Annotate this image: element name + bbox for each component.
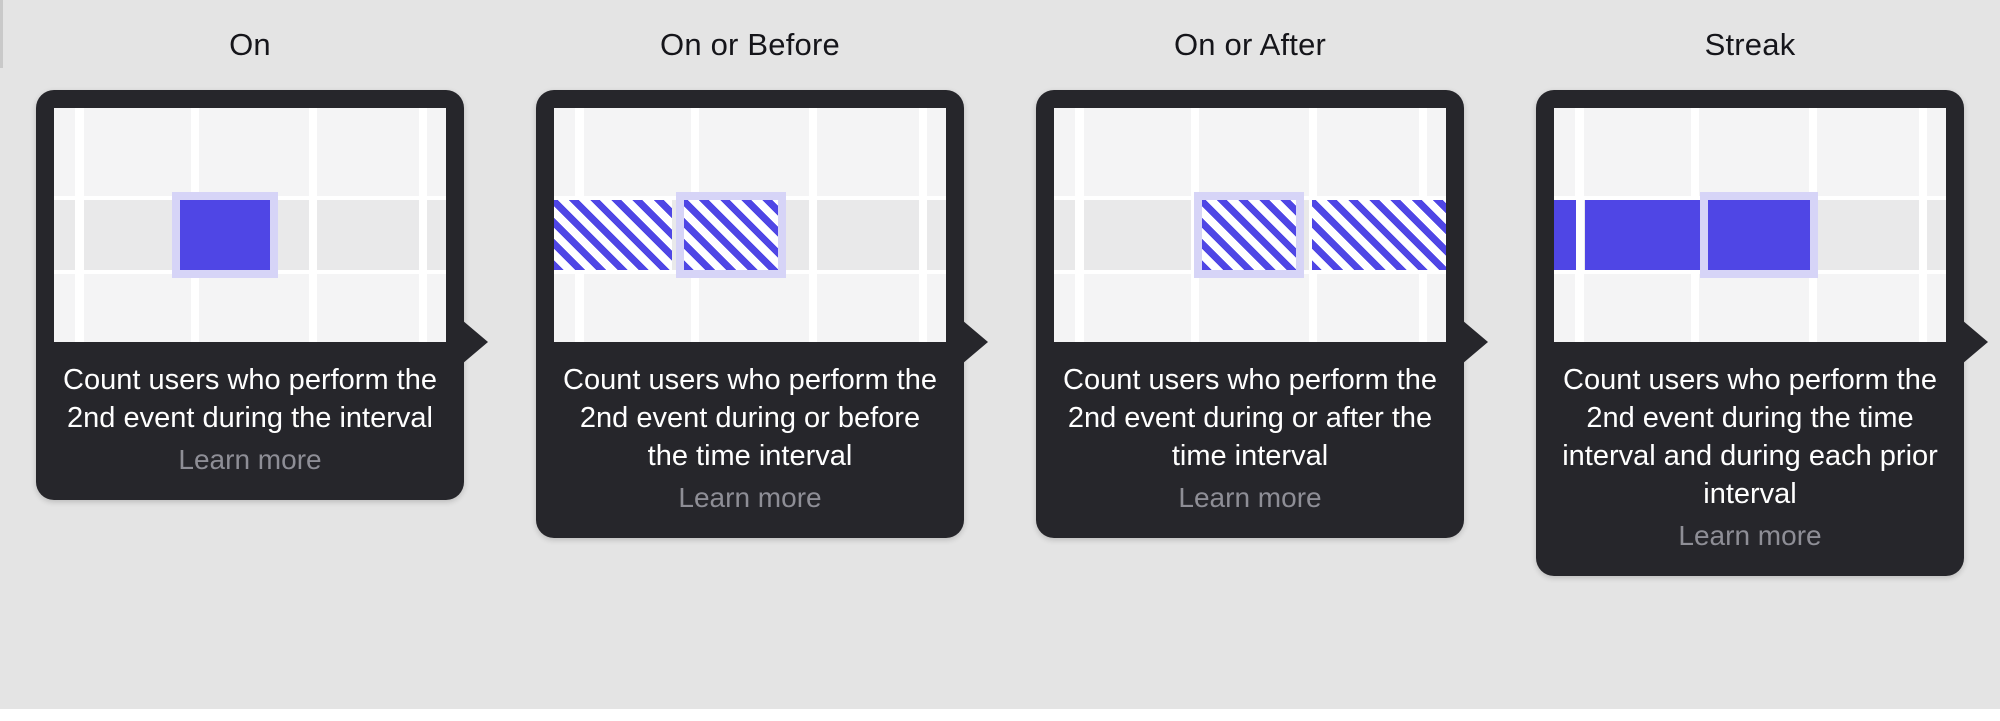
diagram-grid-cell bbox=[317, 200, 420, 270]
diagram-grid-cell bbox=[199, 108, 309, 196]
diagram-grid-cell bbox=[317, 274, 420, 342]
diagram-grid-cell bbox=[54, 200, 75, 270]
learn-more-link[interactable]: Learn more bbox=[178, 442, 321, 478]
diagram-mark-highlighted bbox=[1194, 192, 1304, 278]
learn-more-link[interactable]: Learn more bbox=[1678, 518, 1821, 554]
diagram-mark-highlighted bbox=[172, 192, 278, 278]
info-card: Count users who perform the 2nd event du… bbox=[36, 90, 464, 500]
diagram-grid-cell bbox=[427, 200, 446, 270]
diagram-grid-cell bbox=[554, 274, 575, 342]
card-wrapper: Count users who perform the 2nd event du… bbox=[1036, 90, 1464, 538]
diagram-grid-row bbox=[554, 108, 946, 196]
comparison-column-2: On or AfterCount users who perform the 2… bbox=[1000, 0, 1500, 576]
diagram-grid-cell bbox=[54, 108, 75, 196]
comparison-column-1: On or BeforeCount users who perform the … bbox=[500, 0, 1000, 576]
diagram-mark-fill bbox=[180, 200, 270, 270]
column-header: On or Before bbox=[660, 27, 840, 63]
diagram-mark bbox=[1312, 200, 1446, 270]
diagram-grid-row bbox=[554, 274, 946, 342]
diagram-grid-cell bbox=[1817, 108, 1920, 196]
diagram-grid-cell bbox=[1084, 200, 1191, 270]
diagram-mark bbox=[554, 200, 672, 270]
info-card: Count users who perform the 2nd event du… bbox=[1036, 90, 1464, 538]
comparison-column-0: OnCount users who perform the 2nd event … bbox=[0, 0, 500, 576]
diagram-grid-cell bbox=[1427, 108, 1446, 196]
card-pointer-arrow bbox=[462, 320, 488, 364]
diagram-grid-row bbox=[54, 108, 446, 196]
interval-diagram bbox=[1054, 108, 1446, 342]
diagram-mark-fill bbox=[684, 200, 778, 270]
diagram-grid-cell bbox=[1817, 274, 1920, 342]
card-description: Count users who perform the 2nd event du… bbox=[1060, 362, 1440, 476]
diagram-grid-row bbox=[1554, 108, 1946, 196]
diagram-grid-cell bbox=[1317, 274, 1420, 342]
diagram-grid-cell bbox=[84, 108, 191, 196]
diagram-grid-cell bbox=[1317, 108, 1420, 196]
card-pointer-arrow bbox=[1962, 320, 1988, 364]
diagram-grid-cell bbox=[1199, 108, 1309, 196]
info-card: Count users who perform the 2nd event du… bbox=[1536, 90, 1964, 576]
diagram-mark-fill bbox=[1708, 200, 1810, 270]
diagram-grid-cell bbox=[1427, 274, 1446, 342]
card-description: Count users who perform the 2nd event du… bbox=[560, 362, 940, 476]
diagram-grid-cell bbox=[1584, 274, 1691, 342]
card-pointer-arrow bbox=[1462, 320, 1488, 364]
diagram-grid-cell bbox=[199, 274, 309, 342]
diagram-mark bbox=[1554, 200, 1576, 270]
diagram-grid-cell bbox=[817, 200, 920, 270]
diagram-grid-cell bbox=[1699, 108, 1809, 196]
diagram-grid-cell bbox=[584, 274, 691, 342]
diagram-grid-cell bbox=[554, 108, 575, 196]
card-description: Count users who perform the 2nd event du… bbox=[1560, 362, 1940, 514]
diagram-mark-fill bbox=[1202, 200, 1296, 270]
comparison-columns: OnCount users who perform the 2nd event … bbox=[0, 0, 2000, 576]
interval-diagram bbox=[554, 108, 946, 342]
diagram-grid-cell bbox=[427, 108, 446, 196]
diagram-mark-highlighted bbox=[1700, 192, 1818, 278]
diagram-grid-cell bbox=[699, 274, 809, 342]
comparison-column-3: StreakCount users who perform the 2nd ev… bbox=[1500, 0, 2000, 576]
diagram-grid-row bbox=[54, 274, 446, 342]
diagram-grid-cell bbox=[817, 274, 920, 342]
card-wrapper: Count users who perform the 2nd event du… bbox=[1536, 90, 1964, 576]
diagram-grid-cell bbox=[54, 274, 75, 342]
diagram-grid-cell bbox=[927, 274, 946, 342]
interval-diagram bbox=[1554, 108, 1946, 342]
diagram-grid-cell bbox=[1054, 200, 1075, 270]
learn-more-link[interactable]: Learn more bbox=[1178, 480, 1321, 516]
diagram-grid-cell bbox=[317, 108, 420, 196]
interval-diagram bbox=[54, 108, 446, 342]
column-header: On or After bbox=[1174, 27, 1326, 63]
diagram-grid-cell bbox=[1054, 274, 1075, 342]
diagram-grid-cell bbox=[1699, 274, 1809, 342]
diagram-grid-cell bbox=[84, 274, 191, 342]
bottom-divider bbox=[0, 709, 2000, 721]
diagram-grid-cell bbox=[1084, 274, 1191, 342]
diagram-grid-row bbox=[1554, 274, 1946, 342]
diagram-grid-cell bbox=[817, 108, 920, 196]
column-header: On bbox=[229, 27, 271, 63]
card-pointer-arrow bbox=[962, 320, 988, 364]
diagram-grid-cell bbox=[1554, 108, 1575, 196]
column-header: Streak bbox=[1705, 27, 1796, 63]
card-wrapper: Count users who perform the 2nd event du… bbox=[36, 90, 464, 500]
diagram-grid-cell bbox=[1084, 108, 1191, 196]
diagram-grid-cell bbox=[1927, 274, 1946, 342]
diagram-grid-cell bbox=[1927, 200, 1946, 270]
diagram-grid-row bbox=[1054, 274, 1446, 342]
diagram-grid-cell bbox=[927, 108, 946, 196]
diagram-grid-cell bbox=[1199, 274, 1309, 342]
diagram-grid-cell bbox=[699, 108, 809, 196]
diagram-mark-highlighted bbox=[676, 192, 786, 278]
diagram-grid-row bbox=[1054, 108, 1446, 196]
diagram-grid-cell bbox=[427, 274, 446, 342]
diagram-grid-cell bbox=[584, 108, 691, 196]
diagram-grid-cell bbox=[1554, 274, 1575, 342]
info-card: Count users who perform the 2nd event du… bbox=[536, 90, 964, 538]
card-description: Count users who perform the 2nd event du… bbox=[60, 362, 440, 438]
diagram-grid-cell bbox=[927, 200, 946, 270]
diagram-mark bbox=[1585, 200, 1700, 270]
diagram-grid-cell bbox=[1584, 108, 1691, 196]
learn-more-link[interactable]: Learn more bbox=[678, 480, 821, 516]
card-wrapper: Count users who perform the 2nd event du… bbox=[536, 90, 964, 538]
diagram-grid-cell bbox=[1817, 200, 1920, 270]
diagram-grid-cell bbox=[1054, 108, 1075, 196]
diagram-grid-cell bbox=[1927, 108, 1946, 196]
